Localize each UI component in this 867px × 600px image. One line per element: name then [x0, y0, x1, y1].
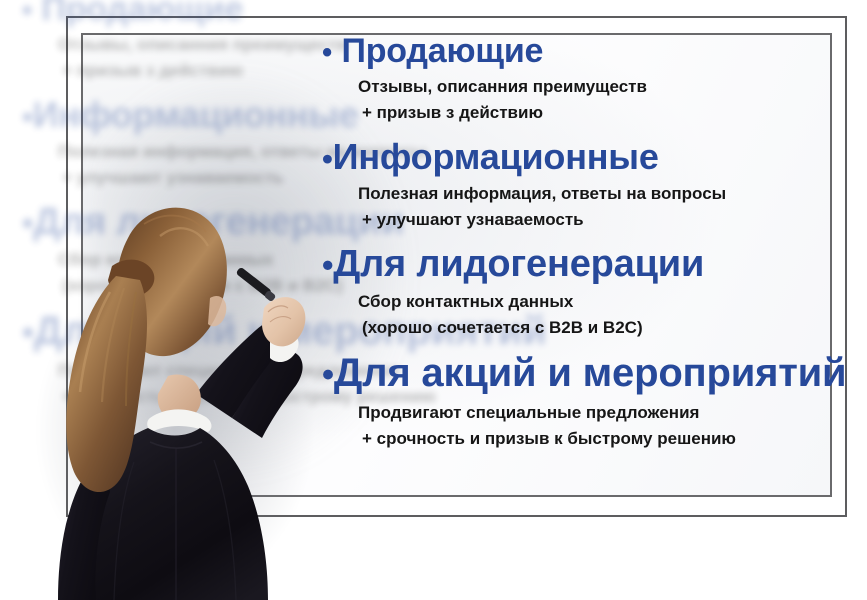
heading-lidogeneratsiya: •Для лидогенерации	[300, 245, 860, 285]
section-informatsionnye: •Информационные Полезная информация, отв…	[300, 138, 860, 228]
bullet-icon-4: •	[322, 356, 334, 394]
heading-informatsionnye: •Информационные	[300, 138, 860, 175]
bullet-icon-3: •	[322, 246, 333, 283]
heading-prodayushchie-text: Продающие	[342, 32, 544, 70]
section-lidogeneratsiya: •Для лидогенерации Сбор контактных данны…	[300, 245, 860, 338]
ghost-bullet-1: •	[22, 0, 32, 27]
heading-aktsii-meropriyatiya-text: Для акций и мероприятий	[334, 351, 847, 395]
line-prodayushchie-2: + призыв з действию	[300, 104, 860, 122]
heading-lidogeneratsiya-text: Для лидогенерации	[333, 243, 704, 285]
heading-aktsii-meropriyatiya: •Для акций и мероприятий	[300, 353, 860, 395]
bullet-icon-2: •	[322, 141, 333, 176]
heading-prodayushchie: • Продающие	[300, 34, 860, 69]
line-aktsii-1: Продвигают специальные предложения	[300, 404, 860, 422]
line-informatsionnye-1: Полезная информация, ответы на вопросы	[300, 185, 860, 203]
ghost-bullet-4: •	[22, 314, 34, 352]
line-prodayushchie-1: Отзывы, описанния преимуществ	[300, 78, 860, 96]
line-lidogeneratsiya-2: (хорошо сочетается с B2B и B2C)	[300, 319, 860, 337]
ghost-bullet-2: •	[22, 99, 33, 134]
slide-content: • Продающие Отзывы, описанния преимущест…	[300, 34, 860, 504]
bullet-icon-1: •	[322, 37, 332, 69]
section-aktsii-meropriyatiya: •Для акций и мероприятий Продвигают спец…	[300, 353, 860, 448]
line-informatsionnye-2: + улучшают узнаваемость	[300, 211, 860, 229]
section-prodayushchie: • Продающие Отзывы, описанния преимущест…	[300, 34, 860, 122]
heading-informatsionnye-text: Информационные	[333, 136, 659, 177]
line-aktsii-2: + срочность и призыв к быстрому решению	[300, 430, 860, 448]
ghost-bullet-3: •	[22, 204, 33, 241]
slide-canvas: • Продающие Отзывы, описанния преимущест…	[0, 0, 867, 600]
line-lidogeneratsiya-1: Сбор контактных данных	[300, 293, 860, 311]
